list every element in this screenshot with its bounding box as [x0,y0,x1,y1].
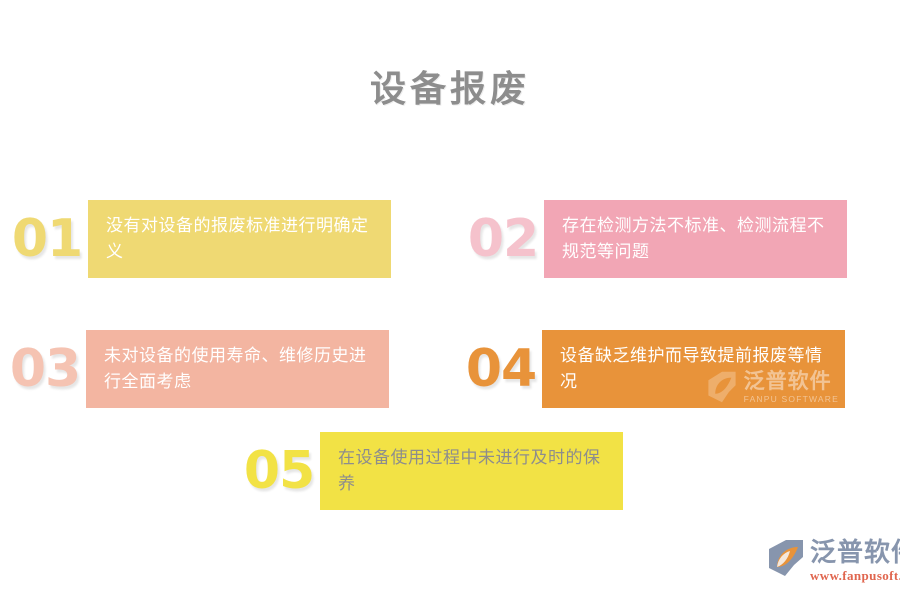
item-text-05: 在设备使用过程中未进行及时的保养 [338,445,607,497]
corner-logo-texts: 泛普软件 www.fanpusoft.com [810,538,900,582]
list-item: 04 设备缺乏维护而导致提前报废等情况 泛普软件 FANPU SOFTWARE [460,330,845,408]
item-box-02: 存在检测方法不标准、检测流程不规范等问题 [544,200,847,278]
box-watermark-subtitle: FANPU SOFTWARE [744,395,839,404]
corner-logo-url: www.fanpusoft.com [810,569,900,582]
item-text-02: 存在检测方法不标准、检测流程不规范等问题 [562,213,831,265]
item-number-02: 02 [462,213,544,265]
item-number-05: 05 [238,445,320,497]
item-number-04: 04 [460,343,542,395]
item-number-03: 03 [4,343,86,395]
item-box-01: 没有对设备的报废标准进行明确定义 [88,200,391,278]
list-item: 05 在设备使用过程中未进行及时的保养 [238,432,623,510]
item-box-05: 在设备使用过程中未进行及时的保养 [320,432,623,510]
slide-canvas: 设备报废 01 没有对设备的报废标准进行明确定义 02 存在检测方法不标准、检测… [0,0,900,600]
page-title: 设备报废 [0,60,900,112]
item-text-04: 设备缺乏维护而导致提前报废等情况 [560,343,829,395]
corner-logo: 泛普软件 www.fanpusoft.com [766,538,900,582]
item-text-01: 没有对设备的报废标准进行明确定义 [106,213,375,265]
list-item: 01 没有对设备的报废标准进行明确定义 [6,200,391,278]
list-item: 02 存在检测方法不标准、检测流程不规范等问题 [462,200,847,278]
item-text-03: 未对设备的使用寿命、维修历史进行全面考虑 [104,343,373,395]
list-item: 03 未对设备的使用寿命、维修历史进行全面考虑 [4,330,389,408]
item-box-04: 设备缺乏维护而导致提前报废等情况 泛普软件 FANPU SOFTWARE [542,330,845,408]
item-number-01: 01 [6,213,88,265]
corner-logo-name: 泛普软件 [810,540,900,566]
item-box-03: 未对设备的使用寿命、维修历史进行全面考虑 [86,330,389,408]
fanpu-logo-icon [766,538,806,578]
